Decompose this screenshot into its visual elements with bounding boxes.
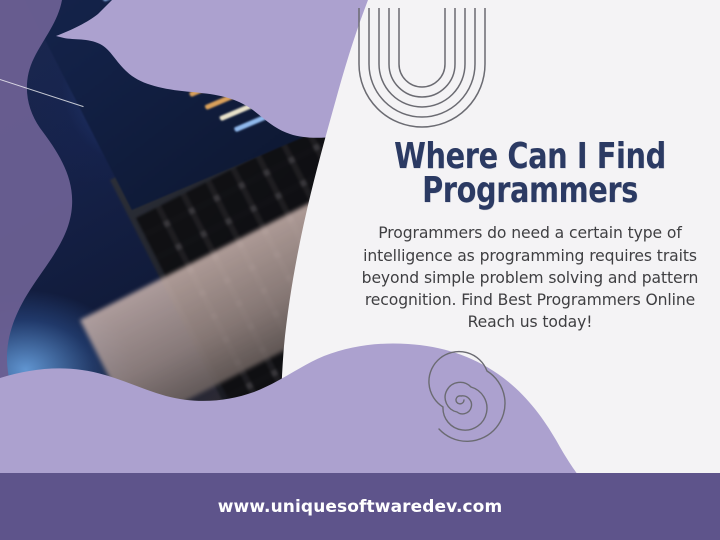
body-paragraph: Programmers do need a certain type of in…: [360, 222, 700, 333]
text-block: Where Can I Find Programmers Programmers…: [360, 140, 700, 333]
purple-bottom-shape: [0, 330, 720, 480]
page-title: Where Can I Find Programmers: [394, 140, 666, 208]
footer-bar: www.uniquesoftwaredev.com: [0, 473, 720, 540]
website-url[interactable]: www.uniquesoftwaredev.com: [218, 497, 503, 517]
poster-canvas: Where Can I Find Programmers Programmers…: [0, 0, 720, 540]
